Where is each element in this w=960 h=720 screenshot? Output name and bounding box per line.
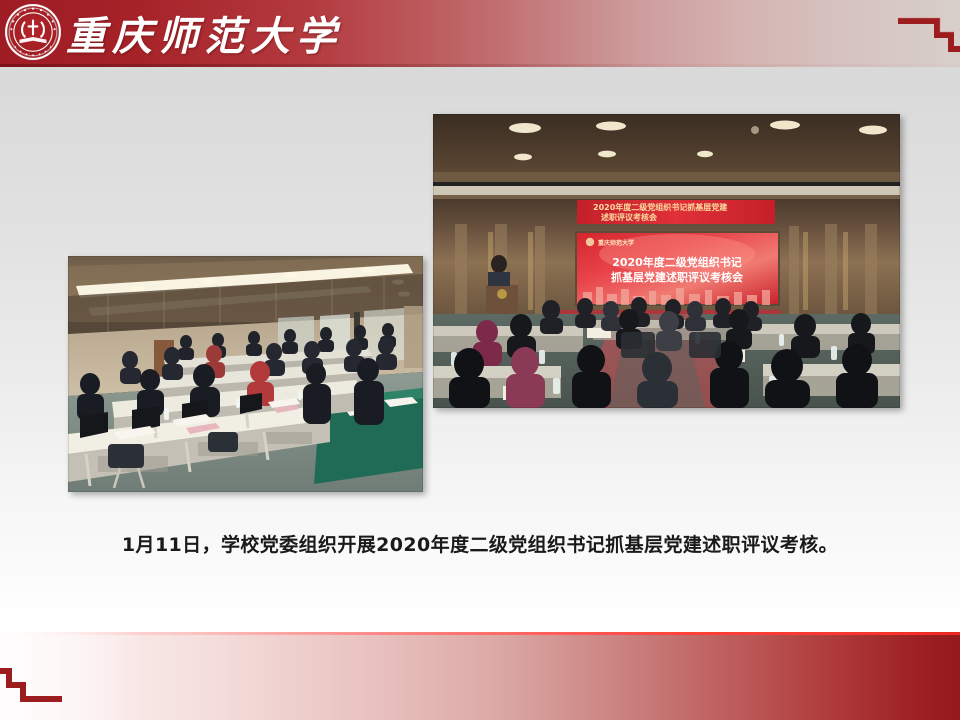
university-seal-icon <box>5 4 61 60</box>
svg-text:抓基层党建述职评议考核会: 抓基层党建述职评议考核会 <box>611 270 744 284</box>
corner-ornament-top-right-icon <box>888 0 960 52</box>
corner-ornament-bottom-left-icon <box>0 668 72 720</box>
conference-hall-photo: 2020年度二级党组织书记抓基层党建 述职评议考核会 重庆师范大学 2020年度… <box>433 114 900 408</box>
slide-caption: 1月11日，学校党委组织开展2020年度二级党组织书记抓基层党建述职评议考核。 <box>0 530 960 557</box>
meeting-room-photo <box>68 256 423 492</box>
svg-text:重庆师范大学: 重庆师范大学 <box>598 239 634 247</box>
svg-text:2020年度二级党组织书记抓基层党建: 2020年度二级党组织书记抓基层党建 <box>593 202 728 212</box>
page-title: 重庆师范大学 <box>66 4 342 62</box>
svg-text:2020年度二级党组织书记: 2020年度二级党组织书记 <box>612 255 742 269</box>
header-band: 重庆师范大学 <box>0 0 960 67</box>
slide-canvas: 重庆师范大学 <box>0 0 960 720</box>
svg-text:述职评议考核会: 述职评议考核会 <box>601 212 657 222</box>
footer-band <box>0 632 960 720</box>
